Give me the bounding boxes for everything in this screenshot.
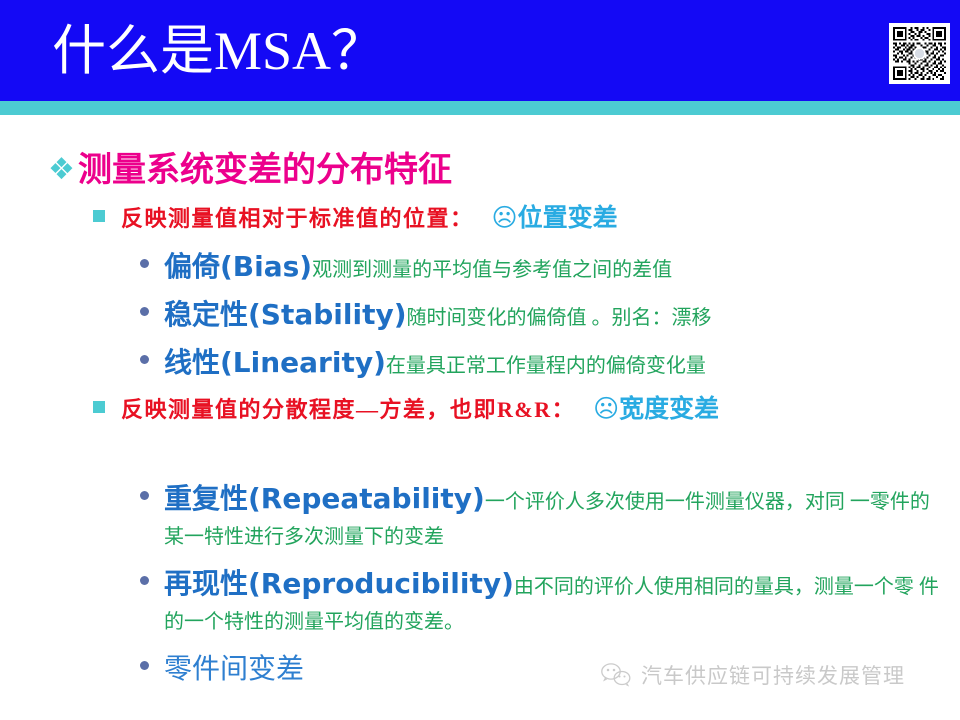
highlight-text: 位置变差	[518, 203, 618, 232]
list-item: 重复性(Repeatability)一个评价人多次使用一件测量仪器，对同 一零件…	[140, 478, 940, 554]
term-description: 观测到测量的平均值与参考值之间的差值	[312, 259, 672, 281]
section-heading-text: 反映测量值的分散程度—方差，也即R&R：	[121, 397, 575, 422]
diamond-bullet-icon: ❖	[48, 147, 78, 193]
watermark-text: 汽车供应链可持续发展管理	[641, 660, 905, 690]
qr-code-icon	[889, 23, 950, 84]
round-bullet-icon	[140, 491, 149, 500]
term-label: 偏倚(Bias)	[164, 250, 312, 283]
term-label: 线性(Linearity)	[164, 346, 386, 379]
round-bullet-icon	[140, 576, 149, 585]
section-heading-text: 反映测量值相对于标准值的位置：	[121, 206, 474, 231]
slide-body: ❖测量系统变差的分布特征 反映测量值相对于标准值的位置：☹位置变差 偏倚(Bia…	[0, 115, 960, 720]
list-item: 再现性(Reproducibility)由不同的评价人使用相同的量具，测量一个零…	[140, 563, 940, 639]
highlight-emoji-icon: ☹	[593, 394, 619, 423]
term-label: 稳定性(Stability)	[164, 298, 407, 331]
term-description: 随时间变化的偏倚值 。别名：漂移	[407, 307, 712, 329]
list-item: 线性(Linearity)在量具正常工作量程内的偏倚变化量	[140, 342, 940, 384]
square-bullet-icon	[93, 210, 105, 222]
list-item: 偏倚(Bias)观测到测量的平均值与参考值之间的差值	[140, 246, 940, 288]
wechat-watermark: 汽车供应链可持续发展管理	[600, 660, 905, 690]
highlight-emoji-icon: ☹	[492, 203, 518, 232]
level1-text: 测量系统变差的分布特征	[78, 147, 452, 193]
bullet-level1: ❖测量系统变差的分布特征	[48, 147, 452, 193]
section-heading-width: 反映测量值的分散程度—方差，也即R&R：☹宽度变差	[93, 392, 933, 427]
round-bullet-icon	[140, 259, 149, 268]
list-item: 稳定性(Stability)随时间变化的偏倚值 。别名：漂移	[140, 294, 940, 336]
term-label: 零件间变差	[164, 652, 304, 685]
header-accent-bar	[0, 101, 960, 115]
term-label: 重复性(Repeatability)	[164, 482, 485, 515]
highlight-text: 宽度变差	[619, 394, 719, 423]
round-bullet-icon	[140, 307, 149, 316]
square-bullet-icon	[93, 401, 105, 413]
term-label: 再现性(Reproducibility)	[164, 567, 514, 600]
round-bullet-icon	[140, 355, 149, 364]
term-description: 在量具正常工作量程内的偏倚变化量	[386, 355, 706, 377]
page-title: 什么是MSA？	[52, 12, 385, 90]
section-heading-position: 反映测量值相对于标准值的位置：☹位置变差	[93, 201, 938, 236]
round-bullet-icon	[140, 661, 149, 670]
wechat-icon	[600, 662, 632, 688]
